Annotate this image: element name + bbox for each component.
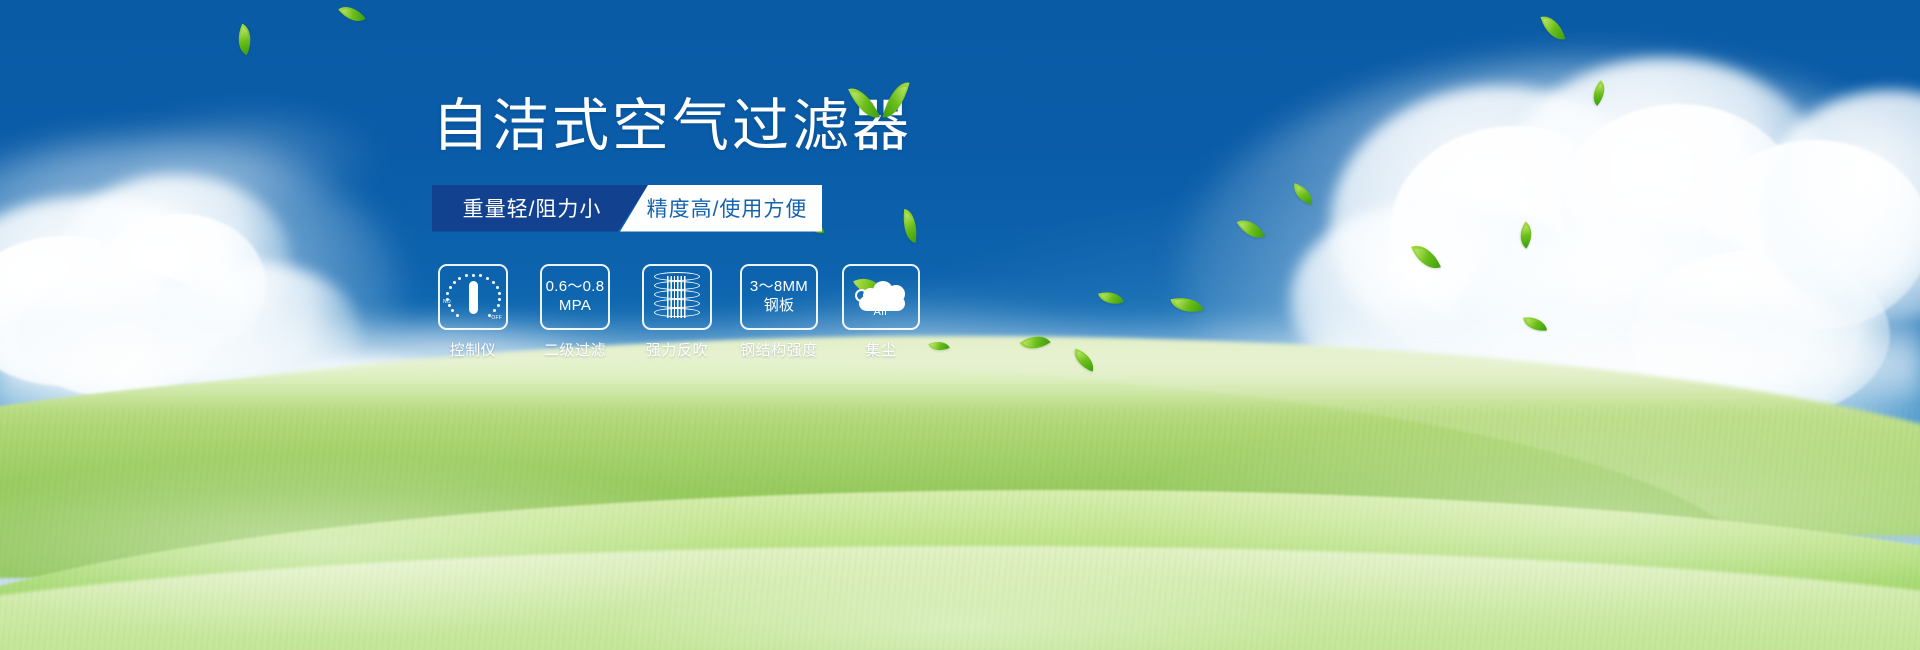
gauge-on-label: NO xyxy=(443,299,451,305)
leaf-icon xyxy=(848,82,880,124)
gauge-dial-icon: NO OFF xyxy=(444,271,502,323)
feature-label: 钢结构强度 xyxy=(740,339,818,360)
feature-item-strong-blowback[interactable]: 强力反吹 xyxy=(636,264,718,360)
product-banner: 自洁式空气过滤器 重量轻/阻力小 精度高/使用方便 xyxy=(0,0,1920,650)
feature-list: NO OFF 控制仪 0.6～0.8 MPA 二级过滤 xyxy=(432,264,1052,360)
feature-icon-box: 0.6～0.8 MPA xyxy=(540,264,610,330)
feature-label: 控制仪 xyxy=(450,339,497,360)
coil-blowback-icon xyxy=(654,272,700,322)
feature-icon-box: Air xyxy=(842,264,920,330)
title-leaf-decoration xyxy=(847,78,917,128)
steel-plate-text-icon-line1: 3～8MM xyxy=(750,278,808,297)
banner-content: 自洁式空气过滤器 重量轻/阻力小 精度高/使用方便 xyxy=(432,96,1052,360)
air-cloud-icon: Air xyxy=(853,277,909,317)
air-label: Air xyxy=(853,306,909,318)
feature-item-steel-strength[interactable]: 3～8MM 钢板 钢结构强度 xyxy=(738,264,820,360)
cloud-ring xyxy=(855,289,868,302)
page-title: 自洁式空气过滤器 xyxy=(432,96,1052,158)
pressure-text-icon-line1: 0.6～0.8 xyxy=(546,278,605,297)
subtitle-left-panel: 重量轻/阻力小 xyxy=(432,185,648,232)
feature-item-dust-collection[interactable]: Air 集尘 xyxy=(840,264,922,360)
feature-label: 强力反吹 xyxy=(646,339,708,360)
steel-plate-text-icon-line2: 钢板 xyxy=(764,297,795,316)
feature-icon-box: NO OFF xyxy=(438,264,508,330)
subtitle-banner: 重量轻/阻力小 精度高/使用方便 xyxy=(432,185,822,232)
feature-item-two-stage-filter[interactable]: 0.6～0.8 MPA 二级过滤 xyxy=(534,264,616,360)
feature-label: 集尘 xyxy=(865,339,896,360)
feature-item-control-gauge[interactable]: NO OFF 控制仪 xyxy=(432,264,514,360)
feature-icon-box: 3～8MM 钢板 xyxy=(740,264,818,330)
pressure-text-icon-line2: MPA xyxy=(559,297,591,316)
subtitle-right-text: 精度高/使用方便 xyxy=(647,193,808,223)
subtitle-right-panel: 精度高/使用方便 xyxy=(620,185,822,232)
leaf-icon xyxy=(882,78,909,121)
feature-icon-box xyxy=(642,264,712,330)
grass-field xyxy=(0,366,1920,650)
gauge-off-label: OFF xyxy=(491,315,502,321)
subtitle-left-text: 重量轻/阻力小 xyxy=(463,193,602,223)
feature-label: 二级过滤 xyxy=(544,339,606,360)
gauge-needle xyxy=(469,281,478,314)
